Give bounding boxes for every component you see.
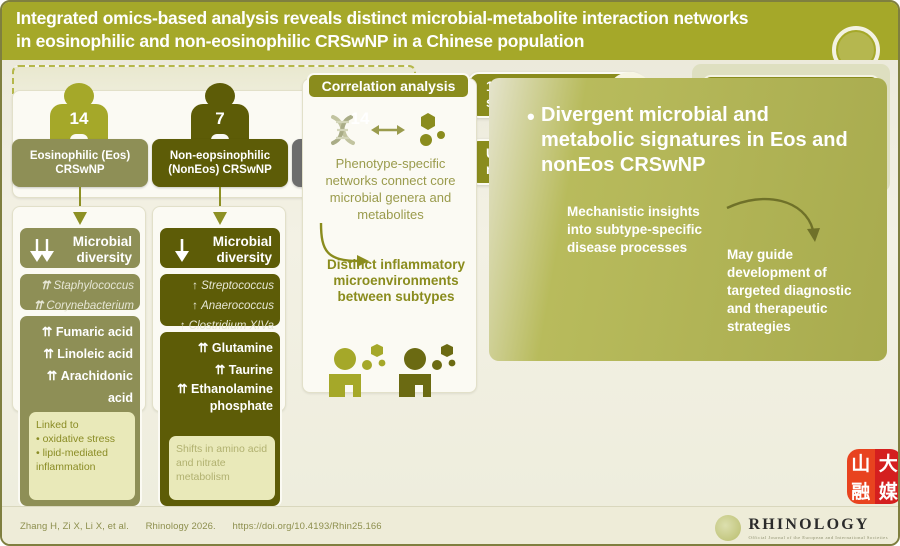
note-item-eos-0: • oxidative stress: [36, 432, 128, 446]
footer-bar: Zhang H, Zi X, Li X, et al. Rhinology 20…: [2, 506, 900, 546]
up-double-arrow-icon: ⇈: [43, 347, 57, 361]
correlation-card: Correlation analysis: [302, 78, 477, 393]
note-title-eos: Linked to: [36, 418, 128, 432]
down-double-arrow-icon: [28, 237, 56, 265]
citation-authors: Zhang H, Zi X, Li X, et al.: [20, 521, 129, 532]
citation-doi[interactable]: https://doi.org/10.4193/Rhin25.166: [233, 521, 382, 532]
finding-metabolites-eos[interactable]: ⇈ Fumaric acid ⇈ Linoleic acid ⇈ Arachid…: [18, 314, 142, 508]
molecules-icon: [420, 113, 445, 146]
correlation-figures: [321, 341, 463, 397]
cohort-count-noneos: 7: [191, 109, 249, 129]
watermark-char-1: 大: [875, 449, 900, 477]
up-single-arrow-icon: ↑: [192, 280, 201, 292]
up-double-arrow-icon: ⇈: [198, 341, 212, 355]
watermark-char-3: 媒: [875, 477, 900, 505]
conclusion-right-text: May guide development of targeted diagno…: [727, 246, 877, 336]
logo-text: RHINOLOGY: [749, 516, 889, 534]
metabolite-row-eos-2: ⇈ Arachidonic acid: [20, 365, 140, 409]
citation: Zhang H, Zi X, Li X, et al. Rhinology 20…: [20, 521, 396, 532]
finding-diversity-noneos[interactable]: Microbial diversity: [158, 226, 282, 270]
abstract-canvas: 14 Eosinophilic (Eos) CRSwNP 7 Non-eopsi…: [2, 60, 900, 506]
up-double-arrow-icon: ⇈: [47, 369, 61, 383]
note-box-eos: Linked to • oxidative stress • lipid-med…: [29, 412, 135, 500]
correlation-header: Correlation analysis: [307, 73, 470, 99]
logo-subtitle: Official Journal of the European and Int…: [749, 535, 889, 540]
cohort-label-eos[interactable]: Eosinophilic (Eos) CRSwNP: [12, 139, 148, 187]
conclusion-bullet-text: Divergent microbial and metabolic signat…: [541, 104, 848, 176]
up-single-arrow-icon: ↑: [192, 300, 201, 312]
title-line-1: Integrated omics-based analysis reveals …: [16, 7, 888, 30]
finding-metabolites-noneos[interactable]: ⇈ Glutamine ⇈ Taurine ⇈ Ethanolamine pho…: [158, 330, 282, 508]
arrow-down-noneos: [212, 206, 228, 226]
metabolite-row-noneos-2: ⇈ Ethanolamine phosphate: [160, 381, 280, 415]
down-single-arrow-icon: [171, 237, 193, 265]
watermark-logo: 山 大 融 媒: [847, 449, 900, 504]
metabolite-row-noneos-1: ⇈ Taurine: [160, 359, 280, 381]
up-double-arrow-icon: ⇈: [34, 300, 47, 312]
correlation-conclusion: Distinct inflammatory microenvironments …: [317, 257, 475, 305]
taxa-row-noneos-1: ↑ Anaerococcus: [160, 298, 280, 318]
leaf-icon: [715, 515, 741, 541]
conclusion-curved-arrow: [725, 196, 829, 248]
finding-taxa-eos[interactable]: ⇈ Staphylococcus ⇈ Corynebacterium: [18, 272, 142, 312]
taxa-row-noneos-0: ↑ Streptococcus: [160, 274, 280, 298]
correlation-body-text: Phenotype-specific networks connect core…: [309, 155, 472, 223]
watermark-char-0: 山: [847, 449, 875, 477]
note-text-noneos: Shifts in amino acid and nitrate metabol…: [176, 442, 268, 484]
arrow-down-eos: [72, 206, 88, 226]
person-eos-figure: [329, 344, 385, 397]
conclusion-left-text: Mechanistic insights into subtype-specif…: [567, 203, 717, 257]
up-double-arrow-icon: ⇈: [215, 363, 229, 377]
metabolite-row-eos-0: ⇈ Fumaric acid: [20, 316, 140, 343]
watermark-char-2: 融: [847, 477, 875, 505]
finding-diversity-eos[interactable]: Microbial diversity: [18, 226, 142, 270]
cohort-label-noneos[interactable]: Non-eopsinophilic (NonEos) CRSwNP: [152, 139, 288, 187]
up-double-arrow-icon: ⇈: [177, 382, 191, 396]
metabolite-row-eos-1: ⇈ Linoleic acid: [20, 343, 140, 365]
up-double-arrow-icon: ⇈: [42, 325, 56, 339]
note-box-noneos: Shifts in amino acid and nitrate metabol…: [169, 436, 275, 500]
up-double-arrow-icon: ⇈: [41, 280, 54, 292]
finding-taxa-noneos[interactable]: ↑ Streptococcus ↑ Anaerococcus ↑ Clostri…: [158, 272, 282, 328]
conclusion-bullet: • Divergent microbial and metabolic sign…: [541, 103, 861, 178]
graphical-abstract: Integrated omics-based analysis reveals …: [0, 0, 900, 546]
title-line-2: in eosinophilic and non-eosinophilic CRS…: [16, 30, 888, 53]
taxa-row-eos-0: ⇈ Staphylococcus: [20, 274, 140, 298]
note-item-eos-1: • lipid-mediated inflammation: [36, 446, 128, 474]
cohort-count-healthy: 14: [331, 109, 389, 129]
rhinology-logo: RHINOLOGY Official Journal of the Europe…: [715, 515, 889, 541]
cohort-count-eos: 14: [50, 109, 108, 129]
cohort-person-noneos: 7: [191, 83, 249, 145]
citation-journal: Rhinology 2026.: [146, 521, 216, 532]
metabolite-row-noneos-0: ⇈ Glutamine: [160, 332, 280, 359]
person-noneos-figure: [399, 344, 455, 397]
cohort-person-eos: 14: [50, 83, 108, 145]
header-banner: Integrated omics-based analysis reveals …: [2, 2, 900, 60]
conclusion-panel: • Divergent microbial and metabolic sign…: [489, 78, 887, 361]
bullet-icon: •: [527, 104, 535, 129]
